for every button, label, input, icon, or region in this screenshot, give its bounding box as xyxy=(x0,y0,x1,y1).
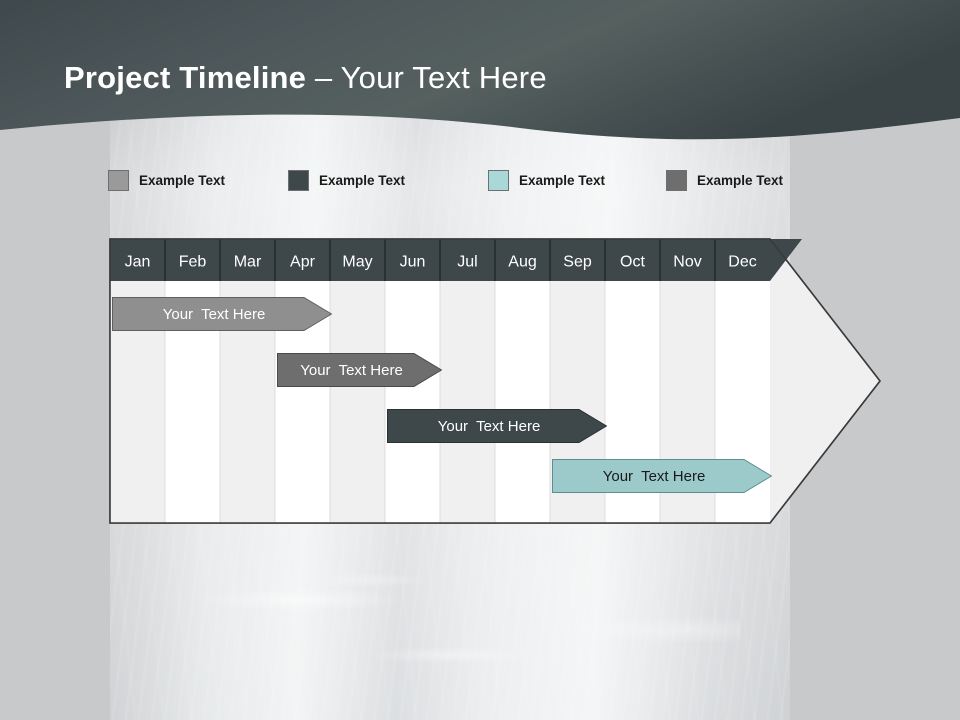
timeline-column-jul xyxy=(440,280,495,523)
month-label-jun[interactable]: Jun xyxy=(400,254,426,271)
slide-canvas: Project Timeline – Your Text Here Exampl… xyxy=(0,0,960,720)
legend-label-3: Example Text xyxy=(519,173,605,188)
legend: Example Text Example Text Example Text E… xyxy=(108,170,783,191)
timeline-column-jun xyxy=(385,280,440,523)
timeline-bar-label: Your Text Here xyxy=(277,353,442,387)
timeline-bar-3[interactable]: Your Text Here xyxy=(387,409,607,443)
page-title-rest: – Your Text Here xyxy=(306,60,547,95)
timeline-bar-label: Your Text Here xyxy=(552,459,772,493)
legend-label-1: Example Text xyxy=(139,173,225,188)
legend-swatch-gray-dark xyxy=(666,170,687,191)
legend-swatch-teal xyxy=(488,170,509,191)
page-title-bold: Project Timeline xyxy=(64,60,306,95)
legend-swatch-gray-light xyxy=(108,170,129,191)
month-label-jul[interactable]: Jul xyxy=(457,254,477,271)
month-label-feb[interactable]: Feb xyxy=(179,254,207,271)
timeline-bar-label: Your Text Here xyxy=(112,297,332,331)
month-label-apr[interactable]: Apr xyxy=(290,254,316,271)
timeline-bar-label: Your Text Here xyxy=(387,409,607,443)
legend-item-3[interactable]: Example Text xyxy=(488,170,666,191)
month-label-sep[interactable]: Sep xyxy=(563,254,592,271)
timeline-column-may xyxy=(330,280,385,523)
timeline-bar-4[interactable]: Your Text Here xyxy=(552,459,772,493)
timeline-month-header: JanFebMarAprMayJunJulAugSepOctNovDec xyxy=(110,239,802,281)
month-label-mar[interactable]: Mar xyxy=(234,254,262,271)
legend-item-2[interactable]: Example Text xyxy=(288,170,488,191)
timeline-bar-2[interactable]: Your Text Here xyxy=(277,353,442,387)
month-label-aug[interactable]: Aug xyxy=(508,254,536,271)
timeline-bar-1[interactable]: Your Text Here xyxy=(112,297,332,331)
legend-item-1[interactable]: Example Text xyxy=(108,170,288,191)
month-label-oct[interactable]: Oct xyxy=(620,254,645,271)
timeline-chart: JanFebMarAprMayJunJulAugSepOctNovDec You… xyxy=(108,237,883,524)
legend-label-2: Example Text xyxy=(319,173,405,188)
legend-swatch-dark-slate xyxy=(288,170,309,191)
month-label-dec[interactable]: Dec xyxy=(728,254,756,271)
month-label-may[interactable]: May xyxy=(342,254,372,271)
legend-label-4: Example Text xyxy=(697,173,783,188)
legend-item-4[interactable]: Example Text xyxy=(666,170,783,191)
timeline-column-aug xyxy=(495,280,550,523)
month-label-jan[interactable]: Jan xyxy=(125,254,151,271)
background-photo-ripples xyxy=(120,560,740,710)
month-label-nov[interactable]: Nov xyxy=(673,254,701,271)
page-title: Project Timeline – Your Text Here xyxy=(64,60,547,96)
